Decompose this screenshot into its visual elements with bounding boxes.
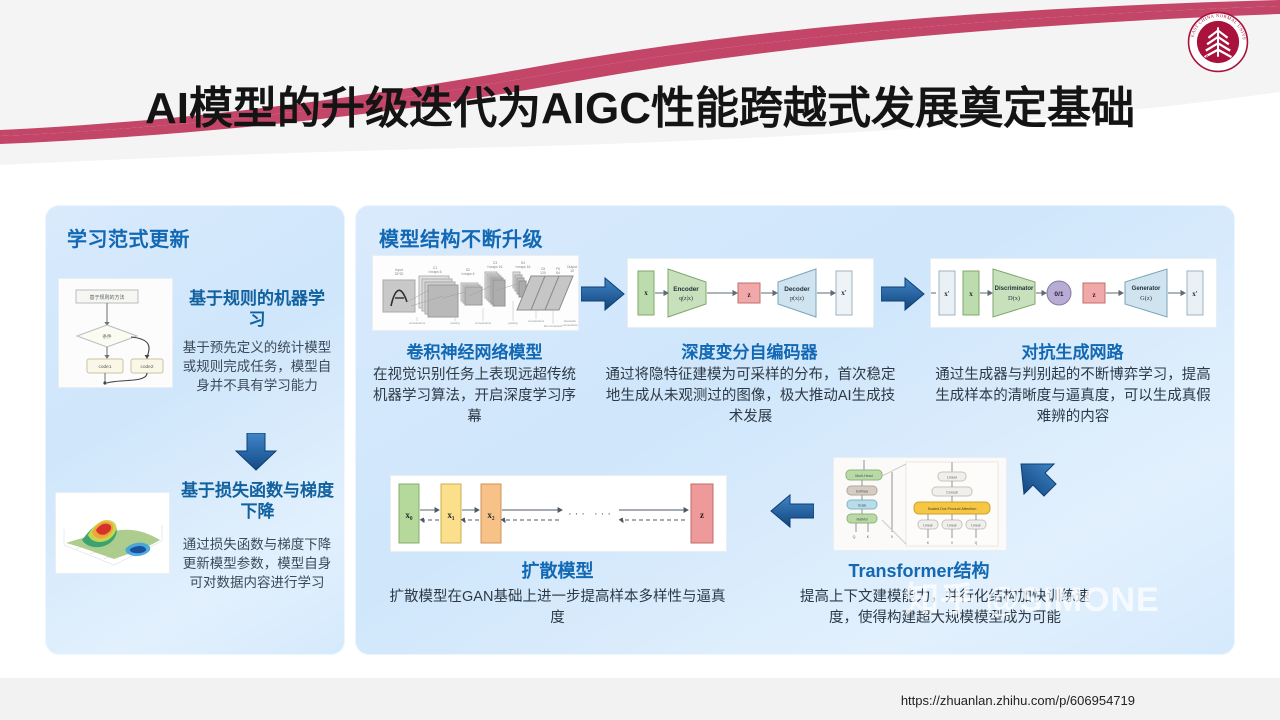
down-arrow-icon bbox=[233, 433, 279, 476]
svg-text:··· ···: ··· ··· bbox=[568, 508, 614, 520]
svg-text:Linear: Linear bbox=[947, 524, 957, 528]
svg-text:基于规则的方法: 基于规则的方法 bbox=[89, 294, 124, 301]
source-url: https://zhuanlan.zhihu.com/p/606954719 bbox=[901, 693, 1135, 708]
rule-based-flowchart-figure: 基于规则的方法 条件 code1 code2 bbox=[58, 278, 173, 388]
slide-title: AI模型的升级迭代为AIGC性能跨越式发展奠定基础 bbox=[0, 72, 1280, 136]
arrow-right-cnn-to-vae-icon bbox=[581, 277, 625, 316]
left-item-0-body: 基于预先定义的统计模型或规则完成任务，模型自身并不具有学习能力 bbox=[181, 338, 333, 395]
svg-text:x′: x′ bbox=[841, 289, 847, 297]
svg-text:z: z bbox=[1092, 291, 1095, 299]
svg-text:Multi-Head: Multi-Head bbox=[855, 474, 872, 478]
svg-text:connections: connections bbox=[562, 323, 578, 327]
svg-text:120: 120 bbox=[540, 271, 546, 275]
svg-text:Encoder: Encoder bbox=[673, 286, 699, 293]
svg-text:MatMul: MatMul bbox=[856, 518, 867, 522]
svg-text:Linear: Linear bbox=[971, 524, 981, 528]
svg-text:Scaled Dot-Product Attention: Scaled Dot-Product Attention bbox=[928, 507, 977, 511]
right-item-3-body: 扩散模型在GAN基础上进一步提高样本多样性与逼真度 bbox=[385, 587, 730, 629]
svg-text:code2: code2 bbox=[140, 364, 153, 370]
svg-text:Scale: Scale bbox=[858, 504, 867, 508]
panel-learning-paradigm: 学习范式更新 基于规则的方法 条件 code1 code2 bbox=[45, 205, 345, 655]
ecnu-seal-logo: EAST CHINA NORMAL UNIVERSITY 华东师范大学 bbox=[1186, 10, 1250, 74]
svg-text:D(x): D(x) bbox=[1008, 295, 1020, 302]
svg-text:G(z): G(z) bbox=[1140, 295, 1152, 302]
svg-text:Q: Q bbox=[853, 535, 856, 539]
svg-text:条件: 条件 bbox=[102, 333, 112, 340]
right-item-2-body: 通过生成器与判别起的不断博弈学习，提高生成样本的清晰度与逼真度，可以生成真假难辨… bbox=[933, 365, 1213, 428]
svg-text:Linear: Linear bbox=[947, 476, 958, 480]
panel-right-heading: 模型结构不断升级 bbox=[379, 223, 543, 252]
arrow-left-transformer-to-diffusion-icon bbox=[768, 493, 814, 534]
svg-text:Concat: Concat bbox=[946, 491, 957, 495]
svg-text:32*32: 32*32 bbox=[395, 272, 404, 276]
diffusion-chain-figure: x₀ x₁ x₂ z ··· ·· bbox=[390, 475, 727, 552]
svg-text:f.maps 6: f.maps 6 bbox=[428, 270, 441, 274]
svg-text:pooling: pooling bbox=[450, 321, 460, 325]
svg-text:x₀: x₀ bbox=[405, 510, 413, 520]
svg-text:full connection: full connection bbox=[544, 324, 563, 328]
svg-text:p(x|z): p(x|z) bbox=[790, 295, 804, 302]
svg-text:f.maps 16: f.maps 16 bbox=[488, 265, 503, 269]
arrow-down-left-gan-to-transformer-icon bbox=[1015, 455, 1061, 506]
svg-text:x: x bbox=[644, 289, 648, 297]
right-item-2-title: 对抗生成网路 bbox=[930, 338, 1215, 363]
right-item-4-body: 提高上下文建模能力，并行化结构加快训练速度，使得构建超大规模模型成为可能 bbox=[795, 587, 1095, 629]
vae-architecture-figure: x Encoder q(z|x) z Decoder p(x|z) x′ bbox=[627, 258, 874, 328]
svg-text:x′: x′ bbox=[944, 290, 950, 298]
svg-text:convolutions: convolutions bbox=[475, 321, 492, 325]
svg-text:f.maps 6: f.maps 6 bbox=[461, 272, 474, 276]
right-item-1-title: 深度变分自编码器 bbox=[627, 338, 872, 363]
svg-text:x′: x′ bbox=[1192, 290, 1198, 298]
right-item-0-body: 在视觉识别任务上表现远超传统机器学习算法，开启深度学习序幕 bbox=[367, 365, 582, 428]
content-board: 学习范式更新 基于规则的方法 条件 code1 code2 bbox=[45, 205, 1235, 655]
svg-text:Discriminator: Discriminator bbox=[995, 286, 1034, 292]
svg-text:Q: Q bbox=[975, 541, 978, 545]
svg-text:Decoder: Decoder bbox=[784, 286, 810, 293]
left-item-0-title: 基于规则的机器学习 bbox=[182, 288, 332, 330]
left-item-1-body: 通过损失函数与梯度下降更新模型参数，模型自身可对数据内容进行学习 bbox=[181, 535, 333, 592]
svg-text:z: z bbox=[747, 291, 750, 299]
left-item-1-title: 基于损失函数与梯度下降 bbox=[180, 480, 335, 522]
right-item-3-title: 扩散模型 bbox=[390, 557, 725, 583]
svg-text:0/1: 0/1 bbox=[1054, 291, 1063, 298]
svg-text:10: 10 bbox=[570, 269, 574, 273]
panel-left-heading: 学习范式更新 bbox=[67, 223, 190, 252]
svg-text:84: 84 bbox=[556, 271, 560, 275]
svg-text:convolutions: convolutions bbox=[409, 321, 426, 325]
svg-text:z: z bbox=[700, 510, 704, 520]
cnn-architecture-figure: Input32*32 C1f.maps 6 S2f.maps 6 C3f.map… bbox=[372, 255, 579, 331]
right-item-4-title: Transformer结构 bbox=[833, 557, 1005, 583]
transformer-attention-figure: Multi-Head Softmax Scale MatMul QKV bbox=[833, 457, 1007, 551]
right-item-0-title: 卷积神经网络模型 bbox=[372, 338, 577, 363]
svg-text:convolutions: convolutions bbox=[528, 319, 545, 323]
svg-text:x: x bbox=[969, 290, 973, 298]
arrow-right-vae-to-gan-icon bbox=[881, 277, 925, 316]
svg-text:pooling: pooling bbox=[508, 321, 518, 325]
svg-text:Softmax: Softmax bbox=[856, 490, 869, 494]
right-item-1-body: 通过将隐特征建模为可采样的分布，首次稳定地生成从未观测过的图像，极大推动AI生成… bbox=[603, 365, 898, 428]
gan-architecture-figure: x′ x Discriminator D(x) 0/1 z Generator … bbox=[930, 258, 1217, 328]
svg-text:Generator: Generator bbox=[1132, 286, 1161, 292]
svg-text:x₂: x₂ bbox=[487, 510, 495, 520]
svg-text:code1: code1 bbox=[98, 364, 111, 370]
panel-model-architecture: 模型结构不断升级 Input32*32 C1f.maps 6 S2f.maps … bbox=[355, 205, 1235, 655]
svg-text:x₁: x₁ bbox=[447, 510, 455, 520]
svg-text:Linear: Linear bbox=[923, 524, 933, 528]
svg-text:f.maps 16: f.maps 16 bbox=[516, 265, 531, 269]
svg-text:q(z|x): q(z|x) bbox=[679, 295, 693, 302]
loss-surface-figure bbox=[55, 492, 170, 574]
